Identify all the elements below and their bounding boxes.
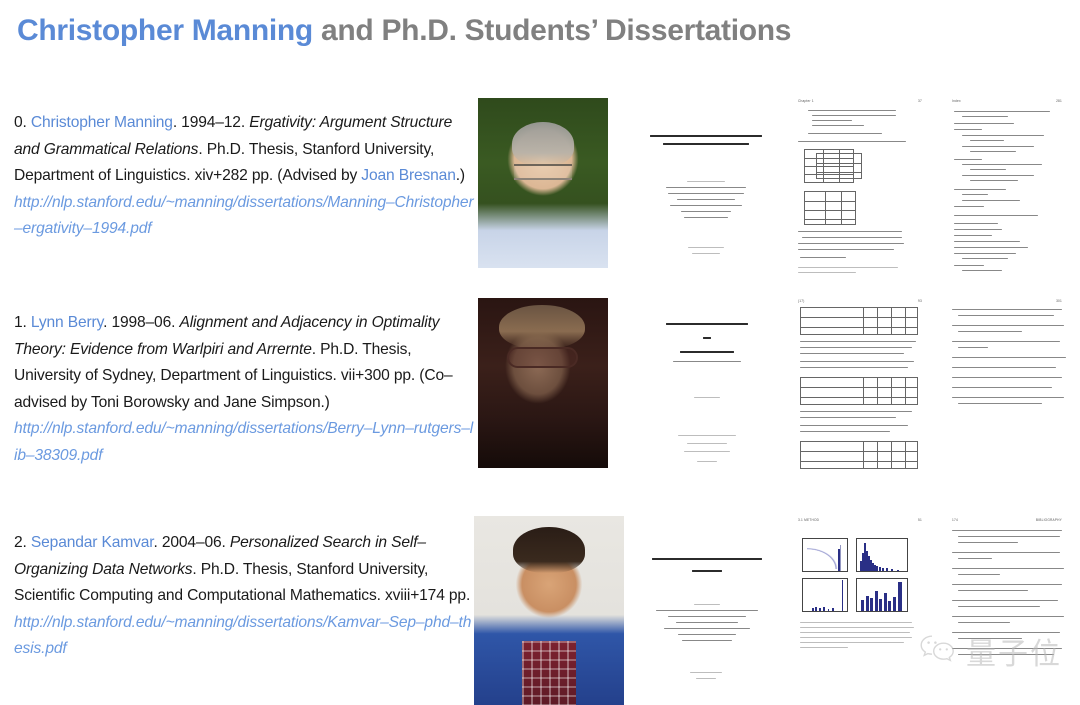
watermark-text: 量子位 <box>966 629 1062 673</box>
page-root: Christopher Manning and Ph.D. Students’ … <box>0 0 1080 705</box>
dissertation-title-page-kamvar[interactable] <box>632 520 780 705</box>
dissertation-references-page-berry[interactable]: 301 <box>944 293 1070 479</box>
entry-date: . 2004–06. <box>153 534 229 551</box>
dissertation-title-page-manning[interactable] <box>632 95 780 275</box>
page-title-accent: Christopher Manning <box>17 14 313 47</box>
page-title-rest: and Ph.D. Students’ Dissertations <box>313 14 791 47</box>
entry-citation: 1. Lynn Berry. 1998–06. Alignment and Ad… <box>14 310 474 469</box>
dissertation-index-page-manning[interactable]: Index281 <box>944 93 1070 279</box>
dissertation-title-page-berry[interactable] <box>632 295 780 475</box>
dissertation-figure-page-kamvar[interactable]: 3.1 METHOD51 <box>790 512 930 698</box>
entry-citation: 0. Christopher Manning. 1994–12. Ergativ… <box>14 110 474 243</box>
entry-person-link[interactable]: Sepandar Kamvar <box>31 534 154 551</box>
dissertation-body-page-manning[interactable]: Chapter 137 <box>790 93 930 279</box>
portrait-christopher-manning[interactable] <box>478 98 608 268</box>
entry-index: 0. <box>14 114 27 131</box>
entry-pdf-link[interactable]: http://nlp.stanford.edu/~manning/dissert… <box>14 194 474 238</box>
entry-person-link[interactable]: Lynn Berry <box>31 314 103 331</box>
entry-pdf-link[interactable]: http://nlp.stanford.edu/~manning/dissert… <box>14 614 471 658</box>
entry-date: . 1998–06. <box>103 314 179 331</box>
entry-person-link[interactable]: Christopher Manning <box>31 114 173 131</box>
page-title: Christopher Manning and Ph.D. Students’ … <box>17 14 791 48</box>
dissertation-tableaux-page-berry[interactable]: (17)93 <box>790 293 930 479</box>
entry-pdf-link[interactable]: http://nlp.stanford.edu/~manning/dissert… <box>14 420 473 464</box>
entry-index: 1. <box>14 314 27 331</box>
watermark: 量子位 <box>919 629 1062 673</box>
entry-index: 2. <box>14 534 27 551</box>
entry-citation: 2. Sepandar Kamvar. 2004–06. Personalize… <box>14 530 474 663</box>
entry-advisor-link[interactable]: Joan Bresnan <box>361 167 455 184</box>
entry-tail: .) <box>456 167 465 184</box>
entry-date: . 1994–12. <box>173 114 249 131</box>
portrait-sepandar-kamvar[interactable] <box>474 516 624 705</box>
wechat-icon <box>919 633 957 670</box>
portrait-lynn-berry[interactable] <box>478 298 608 468</box>
